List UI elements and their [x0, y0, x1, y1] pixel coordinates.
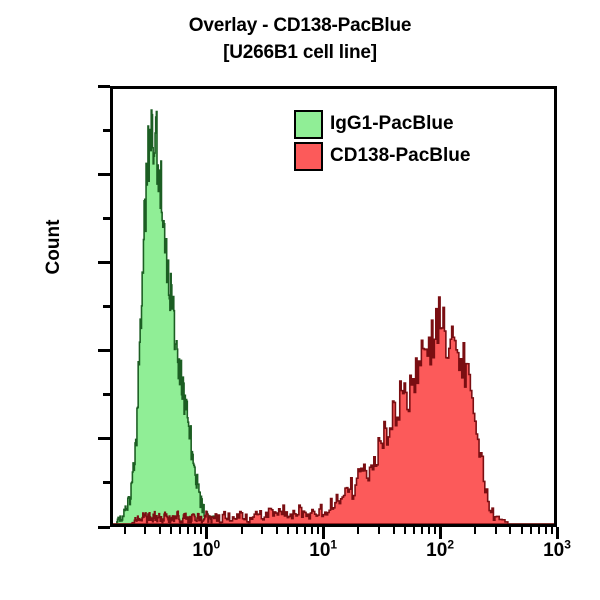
x-tick-minor	[187, 527, 189, 534]
x-tick-minor	[538, 527, 540, 534]
chart-title: Overlay - CD138-PacBlue [U266B1 cell lin…	[0, 12, 600, 66]
x-tick-label: 102	[400, 540, 480, 562]
flow-cytometry-histogram-figure: Overlay - CD138-PacBlue [U266B1 cell lin…	[0, 0, 600, 600]
y-tick-major	[98, 349, 110, 352]
legend: IgG1-PacBlue CD138-PacBlue	[294, 108, 470, 172]
x-tick-minor	[357, 527, 359, 534]
x-tick-minor	[296, 527, 298, 534]
x-tick-label: 103	[517, 540, 597, 562]
x-tick-minor	[413, 527, 415, 534]
chart-title-line-1: Overlay - CD138-PacBlue	[0, 12, 600, 39]
x-tick-major	[205, 527, 208, 539]
x-tick-minor	[179, 527, 181, 534]
x-tick-minor	[545, 527, 547, 534]
histogram-fill	[113, 110, 554, 524]
x-tick-minor	[509, 527, 511, 534]
x-tick-minor	[521, 527, 523, 534]
y-tick-minor	[103, 305, 110, 308]
x-tick-minor	[378, 527, 380, 534]
y-tick-major	[98, 85, 110, 88]
y-tick-minor	[103, 393, 110, 396]
legend-label-igg1: IgG1-PacBlue	[330, 113, 454, 135]
y-axis-label: Count	[43, 147, 65, 347]
x-tick-minor	[311, 527, 313, 534]
legend-label-cd138: CD138-PacBlue	[330, 145, 470, 167]
x-tick-minor	[241, 527, 243, 534]
y-tick-major	[98, 526, 110, 529]
legend-swatch-cd138	[294, 142, 323, 171]
x-tick-minor	[434, 527, 436, 534]
x-tick-minor	[495, 527, 497, 534]
x-tick-label: 101	[283, 540, 363, 562]
x-tick-minor	[317, 527, 319, 534]
x-tick-minor	[428, 527, 430, 534]
x-tick-major	[439, 527, 442, 539]
x-tick-major	[556, 527, 559, 539]
x-tick-minor	[159, 527, 161, 534]
x-tick-minor	[421, 527, 423, 534]
x-tick-label: 100	[166, 540, 246, 562]
x-tick-minor	[474, 527, 476, 534]
x-tick-minor	[170, 527, 172, 534]
y-tick-minor	[103, 217, 110, 220]
x-tick-minor	[287, 527, 289, 534]
x-tick-major	[322, 527, 325, 539]
x-tick-minor	[551, 527, 553, 534]
x-tick-minor	[124, 527, 126, 534]
y-tick-major	[98, 437, 110, 440]
histogram-series-igg1	[113, 110, 554, 524]
x-tick-minor	[261, 527, 263, 534]
x-tick-minor	[304, 527, 306, 534]
y-tick-minor	[103, 481, 110, 484]
x-tick-minor	[276, 527, 278, 534]
x-tick-minor	[404, 527, 406, 534]
y-tick-minor	[103, 129, 110, 132]
legend-item-igg1[interactable]: IgG1-PacBlue	[294, 108, 470, 140]
x-tick-minor	[144, 527, 146, 534]
x-tick-minor	[393, 527, 395, 534]
chart-title-line-2: [U266B1 cell line]	[0, 39, 600, 66]
legend-swatch-igg1	[294, 110, 323, 139]
legend-item-cd138[interactable]: CD138-PacBlue	[294, 140, 470, 172]
x-tick-minor	[530, 527, 532, 534]
x-tick-minor	[200, 527, 202, 534]
x-tick-minor	[194, 527, 196, 534]
y-tick-major	[98, 173, 110, 176]
y-tick-major	[98, 261, 110, 264]
